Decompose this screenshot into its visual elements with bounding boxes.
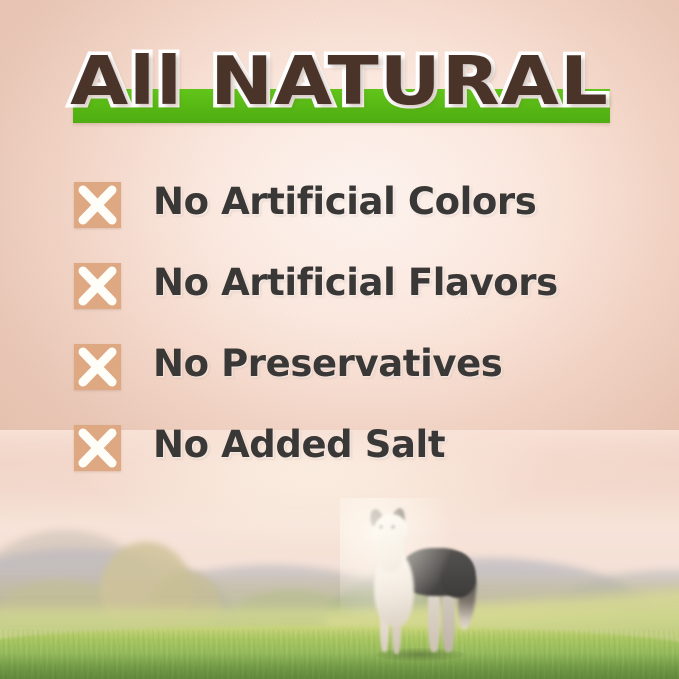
x-mark-icon <box>74 425 121 471</box>
x-mark-icon <box>74 182 121 228</box>
x-mark-icon <box>74 263 121 309</box>
dog-illustration <box>358 512 482 664</box>
dog-rump <box>440 552 476 598</box>
claim-row: No Artificial Colors <box>74 178 634 259</box>
dog-back-leg-right <box>442 592 455 652</box>
claim-row: No Added Salt <box>74 421 634 502</box>
claim-label: No Added Salt <box>153 421 445 468</box>
claims-list: No Artificial Colors No Artificial Flavo… <box>74 178 634 502</box>
dog-eye-left <box>379 525 383 529</box>
claim-row: No Artificial Flavors <box>74 259 634 340</box>
x-mark-icon <box>74 344 121 390</box>
claim-label: No Artificial Flavors <box>153 259 558 306</box>
product-feature-poster: All NATURAL No Artificial Colors <box>0 0 679 679</box>
claim-label: No Preservatives <box>153 340 502 387</box>
claim-label: No Artificial Colors <box>153 178 536 225</box>
photo-bottom-shade <box>0 653 679 679</box>
page-title: All NATURAL <box>0 47 679 115</box>
dog-eye-right <box>391 525 395 529</box>
dog-back-leg-left <box>428 592 440 652</box>
claim-row: No Preservatives <box>74 340 634 421</box>
